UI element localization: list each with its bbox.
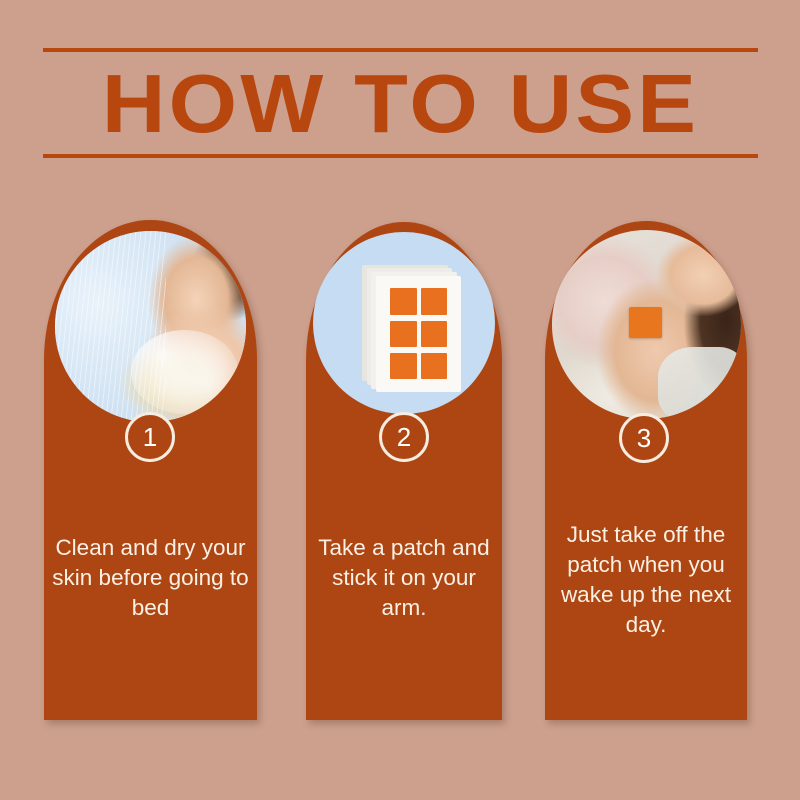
step-1-media bbox=[55, 231, 246, 422]
patch-square bbox=[421, 321, 447, 347]
step-caption-2: Take a patch and stick it on your arm. bbox=[314, 533, 494, 623]
title-rule-bottom bbox=[43, 154, 758, 158]
infographic-page: HOW TO USE 1 Clean and dry your skin bef… bbox=[0, 0, 800, 800]
step-number-badge-2: 2 bbox=[379, 412, 429, 462]
step-caption-3: Just take off the patch when you wake up… bbox=[551, 520, 741, 640]
step-number-badge-3: 3 bbox=[619, 413, 669, 463]
step-3-media bbox=[552, 230, 741, 419]
page-title: HOW TO USE bbox=[22, 54, 780, 154]
pillow bbox=[658, 347, 741, 419]
patch-sheet-front bbox=[376, 276, 462, 392]
patch-square bbox=[390, 321, 416, 347]
patch-square bbox=[421, 288, 447, 314]
illustration-patch-sheets-icon bbox=[313, 232, 495, 414]
title-rule-top bbox=[43, 48, 758, 52]
soap-suds bbox=[131, 330, 238, 414]
step-2-media bbox=[313, 232, 495, 414]
patch-square bbox=[421, 353, 447, 379]
patch-square bbox=[390, 353, 416, 379]
header: HOW TO USE bbox=[43, 48, 758, 158]
photo-woman-showering-icon bbox=[55, 231, 246, 422]
patch-square bbox=[390, 288, 416, 314]
applied-patch bbox=[629, 307, 661, 337]
photo-woman-in-bed-with-patch-icon bbox=[552, 230, 741, 419]
step-number-badge-1: 1 bbox=[125, 412, 175, 462]
step-caption-1: Clean and dry your skin before going to … bbox=[52, 533, 249, 623]
